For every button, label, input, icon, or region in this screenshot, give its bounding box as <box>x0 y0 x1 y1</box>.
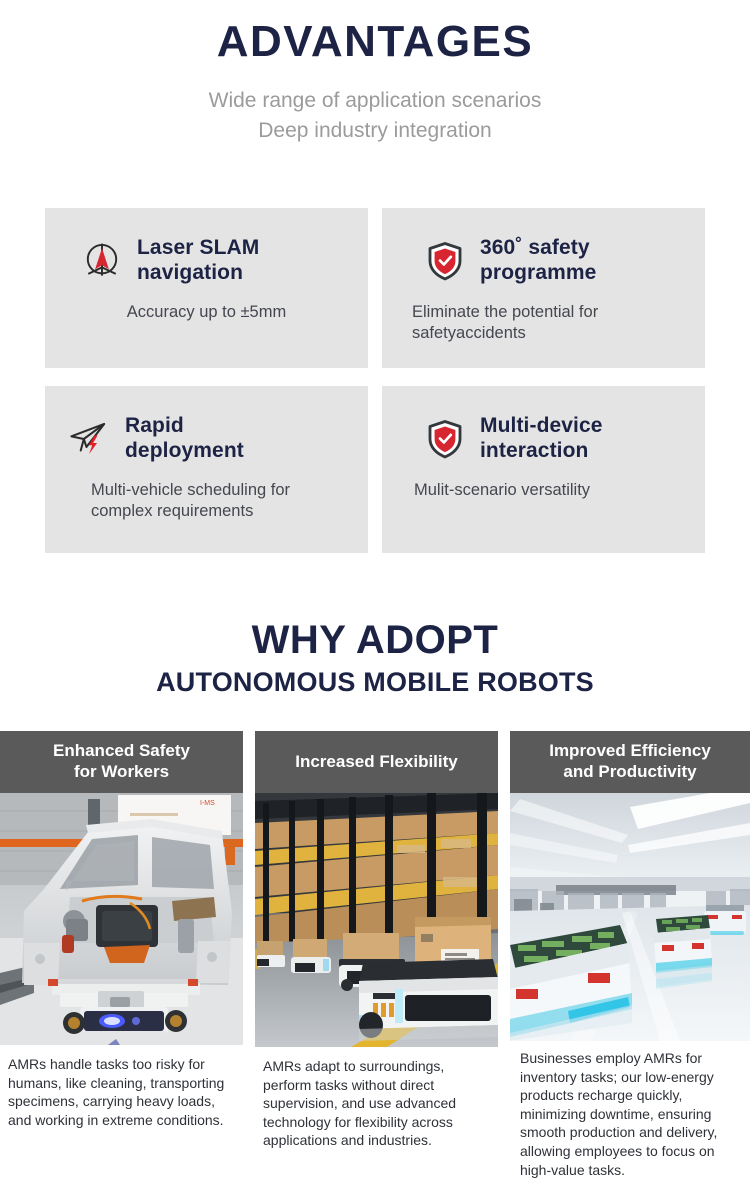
card-header: 360˚ safety programme <box>400 236 687 286</box>
benefit-card-body: Businesses employ AMRs for inventory tas… <box>510 1041 750 1179</box>
compass-navigation-icon <box>79 238 125 284</box>
subtitle-line-1: Wide range of application scenarios <box>0 86 750 116</box>
card-header: Multi-device interaction <box>400 414 687 464</box>
shield-check-icon <box>422 238 468 284</box>
card-title: Rapid deployment <box>125 414 244 464</box>
svg-text:I-MS: I-MS <box>200 800 215 807</box>
benefit-card-header: Improved Efficiency and Productivity <box>510 731 750 793</box>
advantage-card-laser-slam[interactable]: Laser SLAM navigation Accuracy up to ±5m… <box>45 208 368 368</box>
warehouse-amrs-carrying-cardboard-boxes-image <box>255 793 498 1047</box>
card-title: 360˚ safety programme <box>480 236 596 286</box>
shield-check-icon <box>422 416 468 462</box>
benefit-card-header-text: Improved Efficiency and Productivity <box>549 741 711 782</box>
why-adopt-subtitle: AUTONOMOUS MOBILE ROBOTS <box>0 668 750 698</box>
page-title: ADVANTAGES <box>0 17 750 68</box>
card-description: Eliminate the potential for safetyaccide… <box>400 302 687 346</box>
car-body-shell-on-amr-in-factory-image: I-MS <box>0 793 243 1045</box>
advantage-card-360-safety[interactable]: 360˚ safety programme Eliminate the pote… <box>382 208 705 368</box>
marketing-page: ADVANTAGES Wide range of application sce… <box>0 0 750 1200</box>
benefit-card-body: AMRs adapt to surroundings, perform task… <box>255 1047 498 1150</box>
benefit-card-header-text: Increased Flexibility <box>295 752 458 773</box>
benefit-card-improved-efficiency[interactable]: Improved Efficiency and Productivity <box>510 731 750 1179</box>
benefit-card-increased-flexibility[interactable]: Increased Flexibility <box>255 731 498 1150</box>
advantage-card-rapid-deployment[interactable]: Rapid deployment Multi-vehicle schedulin… <box>45 386 368 553</box>
card-title: Multi-device interaction <box>480 414 603 464</box>
clean-electronics-plant-amrs-with-circuit-boards-image <box>510 793 750 1041</box>
card-description: Multi-vehicle scheduling forcomplex requ… <box>63 480 350 524</box>
advantages-card-grid: Laser SLAM navigation Accuracy up to ±5m… <box>45 208 705 553</box>
page-subtitle: Wide range of application scenarios Deep… <box>0 86 750 146</box>
benefit-card-header: Enhanced Safety for Workers <box>0 731 243 793</box>
benefit-card-header: Increased Flexibility <box>255 731 498 793</box>
benefit-card-enhanced-safety[interactable]: Enhanced Safety for Workers <box>0 731 243 1129</box>
card-description: Mulit-scenario versatility <box>400 480 687 502</box>
card-description: Accuracy up to ±5mm <box>63 302 350 324</box>
card-title: Laser SLAM navigation <box>137 236 259 286</box>
card-header: Laser SLAM navigation <box>63 236 350 286</box>
card-header: Rapid deployment <box>63 414 350 464</box>
benefit-card-body: AMRs handle tasks too risky for humans, … <box>0 1045 243 1129</box>
advantage-card-multi-device[interactable]: Multi-device interaction Mulit-scenario … <box>382 386 705 553</box>
subtitle-line-2: Deep industry integration <box>0 116 750 146</box>
why-adopt-title: WHY ADOPT <box>0 618 750 662</box>
benefit-card-row: Enhanced Safety for Workers <box>0 731 750 1193</box>
paper-plane-bolt-icon <box>67 416 113 462</box>
benefit-card-header-text: Enhanced Safety for Workers <box>53 741 190 782</box>
